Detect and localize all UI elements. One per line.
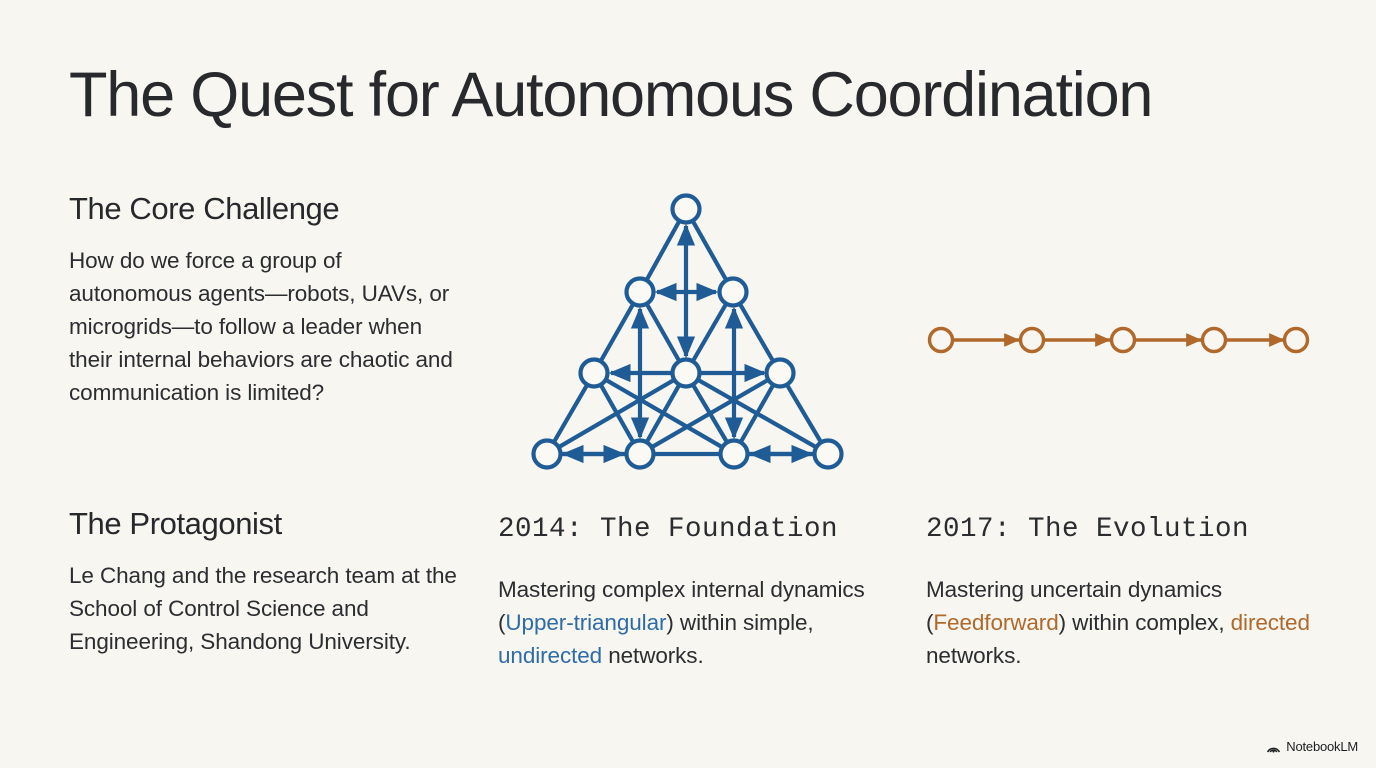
node-d2	[1021, 329, 1044, 352]
core-challenge-heading: The Core Challenge	[69, 190, 469, 228]
foundation-heading: 2014: The Foundation	[498, 513, 898, 547]
node-n4	[581, 360, 608, 387]
protagonist-block: The Protagonist Le Chang and the researc…	[69, 505, 469, 658]
foundation-highlight-upper-triangular: Upper-triangular	[505, 610, 666, 635]
protagonist-heading: The Protagonist	[69, 505, 469, 543]
foundation-body-part3: networks.	[602, 643, 704, 668]
node-d4	[1203, 329, 1226, 352]
core-challenge-block: The Core Challenge How do we force a gro…	[69, 190, 469, 409]
evolution-highlight-directed: directed	[1231, 610, 1310, 635]
node-n3	[720, 279, 747, 306]
foundation-block: 2014: The Foundation Mastering complex i…	[498, 513, 898, 672]
node-n6	[767, 360, 794, 387]
core-challenge-body: How do we force a group of autonomous ag…	[69, 244, 469, 409]
protagonist-body: Le Chang and the research team at the Sc…	[69, 559, 469, 658]
slide-root: The Quest for Autonomous Coordination Th…	[0, 0, 1376, 768]
foundation-body: Mastering complex internal dynamics (Upp…	[498, 573, 898, 672]
evolution-heading: 2017: The Evolution	[926, 513, 1326, 547]
evolution-body: Mastering uncertain dynamics (Feedforwar…	[926, 573, 1326, 672]
notebooklm-logo: NotebookLM	[1266, 739, 1358, 754]
foundation-highlight-undirected: undirected	[498, 643, 602, 668]
node-n1	[673, 196, 700, 223]
undirected-network-svg	[510, 185, 875, 485]
node-d3	[1112, 329, 1135, 352]
node-n2	[627, 279, 654, 306]
node-d5	[1285, 329, 1308, 352]
directed-chain-diagram	[915, 305, 1315, 380]
directed-chain-svg	[915, 305, 1315, 380]
node-d1	[930, 329, 953, 352]
node-n9	[721, 441, 748, 468]
notebooklm-spiral-icon	[1266, 740, 1281, 753]
evolution-body-part3: networks.	[926, 643, 1021, 668]
coordination-arrows	[564, 226, 811, 454]
node-n7	[534, 441, 561, 468]
foundation-body-part2: ) within simple,	[666, 610, 813, 635]
node-n8	[627, 441, 654, 468]
evolution-block: 2017: The Evolution Mastering uncertain …	[926, 513, 1326, 672]
node-n10	[815, 441, 842, 468]
node-n5	[673, 360, 700, 387]
evolution-body-part2: ) within complex,	[1059, 610, 1231, 635]
evolution-highlight-feedforward: Feedforward	[933, 610, 1058, 635]
undirected-network-diagram	[510, 185, 875, 485]
page-title: The Quest for Autonomous Coordination	[69, 57, 1152, 133]
notebooklm-logo-text: NotebookLM	[1286, 739, 1358, 754]
